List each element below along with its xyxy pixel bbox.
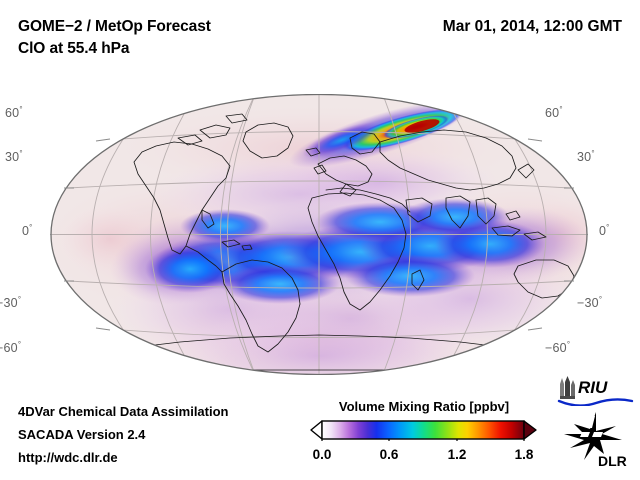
colorbar-tick-3: 1.8 [515,447,534,462]
world-map-hammer-projection [50,94,588,375]
lat-label-left-minus30: −30° [0,295,21,310]
riu-logo: RIU [556,376,634,406]
footer-line-version: SACADA Version 2.4 [18,423,229,446]
colorbar-gradient-bar [310,419,538,441]
footer-line-method: 4DVar Chemical Data Assimilation [18,400,229,423]
lat-label-right-30: 30° [577,149,595,164]
page-subtitle: ClO at 55.4 hPa [18,38,211,60]
colorbar-tick-0: 0.0 [313,447,332,462]
map-panel: 60° 30° 0° −30° −60° 60° 30° 0° −30° −60… [50,94,588,375]
header-title-block: GOME−2 / MetOp Forecast ClO at 55.4 hPa [18,16,211,60]
footer-line-url[interactable]: http://wdc.dlr.de [18,446,229,469]
colorbar-over-arrow [524,421,536,439]
riu-wave-icon [559,399,632,405]
riu-tower-icon [560,376,575,399]
lat-label-right-60: 60° [545,105,563,120]
dlr-wordmark: DLR [598,453,627,468]
lat-label-right-minus60: −60° [545,340,570,355]
lat-label-right-0: 0° [599,223,609,238]
page-title: GOME−2 / MetOp Forecast [18,16,211,38]
footer-text-block: 4DVar Chemical Data Assimilation SACADA … [18,400,229,469]
colorbar-title: Volume Mixing Ratio [ppbv] [310,398,538,415]
colorbar-tick-1: 0.6 [380,447,399,462]
colorbar-under-arrow [311,421,322,439]
colorbar-tick-labels: 0.0 0.6 1.2 1.8 [310,447,538,465]
lat-label-right-minus30: −30° [577,295,602,310]
colorbar: Volume Mixing Ratio [ppbv] [310,398,538,465]
riu-wordmark: RIU [578,378,608,397]
lat-label-left-60: 60° [5,105,23,120]
colorbar-tick-2: 1.2 [448,447,467,462]
dlr-logo: DLR [560,412,634,468]
lat-label-left-30: 30° [5,149,23,164]
map-data-layer [50,94,588,375]
lat-label-left-0: 0° [22,223,32,238]
forecast-timestamp: Mar 01, 2014, 12:00 GMT [443,16,622,38]
lat-label-left-minus60: −60° [0,340,21,355]
